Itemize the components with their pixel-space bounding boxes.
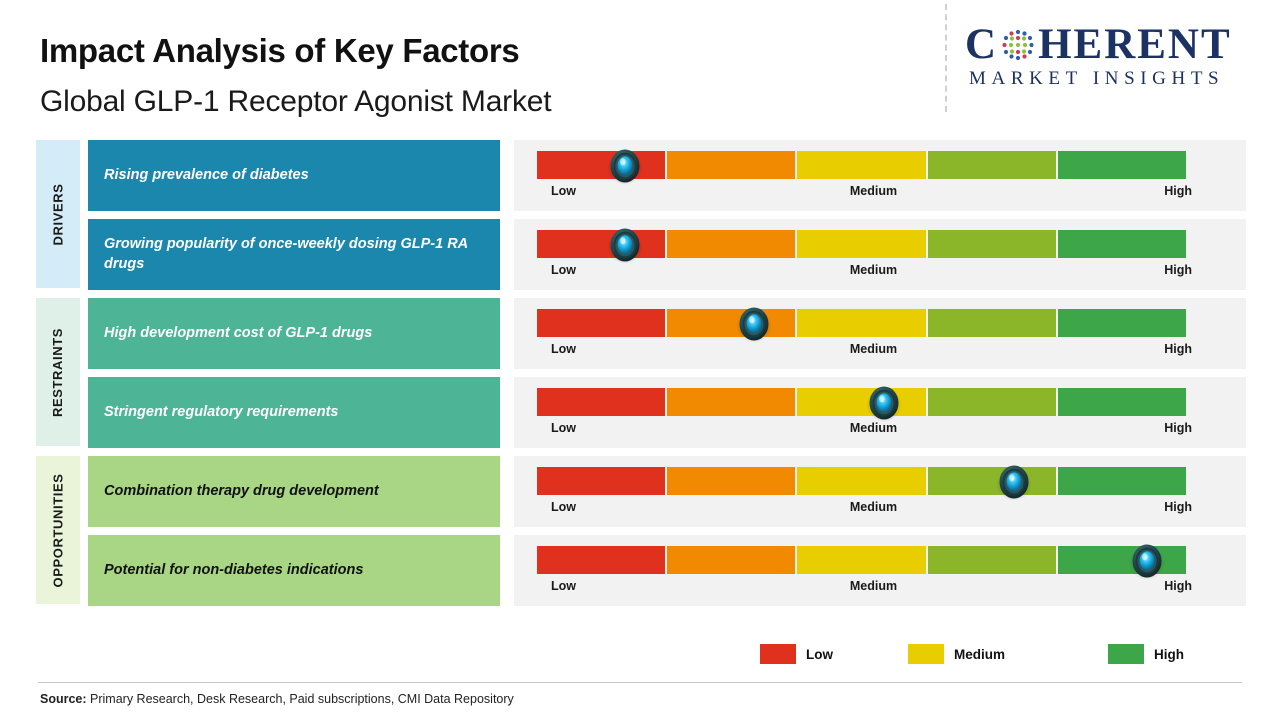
legend-swatch-high [1108, 644, 1144, 664]
gauge-segment-low-medium [667, 230, 795, 258]
gauge-segment-medium-high [928, 467, 1056, 495]
factor-label: Stringent regulatory requirements [88, 377, 500, 448]
gauge-segment-high [1058, 546, 1186, 574]
scale-label-low: Low [551, 421, 576, 435]
gauge-segment-medium [797, 151, 925, 179]
legend: Low Medium High [760, 644, 1220, 670]
gauge-segment-medium [797, 546, 925, 574]
source-text: Primary Research, Desk Research, Paid su… [87, 692, 514, 706]
gauge-bar [537, 546, 1186, 574]
legend-label-medium: Medium [954, 647, 1005, 662]
scale-label-low: Low [551, 342, 576, 356]
gauge-segment-low [537, 230, 665, 258]
gauge-segment-low-medium [667, 309, 795, 337]
gauge-bar [537, 467, 1186, 495]
scale-label-low: Low [551, 184, 576, 198]
gauge-segment-medium [797, 467, 925, 495]
gauge-segment-low-medium [667, 388, 795, 416]
gauge-row: Low Medium High [514, 219, 1246, 290]
scale-label-medium: Medium [850, 342, 897, 356]
factor-label: Rising prevalence of diabetes [88, 140, 500, 211]
gauge-segment-low [537, 546, 665, 574]
scale-label-low: Low [551, 263, 576, 277]
scale-label-high: High [1164, 500, 1192, 514]
gauge-scale-labels: Low Medium High [537, 421, 1210, 439]
category-tab-opportunities: OPPORTUNITIES [36, 456, 80, 604]
scale-label-high: High [1164, 263, 1192, 277]
scale-label-high: High [1164, 421, 1192, 435]
footer-divider [38, 682, 1242, 683]
legend-item-low: Low [760, 644, 833, 664]
globe-dots-icon [999, 26, 1037, 64]
impact-matrix: DRIVERS RESTRAINTS OPPORTUNITIES Rising … [0, 140, 1280, 610]
logo-wordmark: C [965, 22, 1265, 68]
factor-label: Combination therapy drug development [88, 456, 500, 527]
legend-item-high: High [1108, 644, 1184, 664]
gauge-row: Low Medium High [514, 535, 1246, 606]
gauge-segment-high [1058, 309, 1186, 337]
gauge-segment-low-medium [667, 546, 795, 574]
infographic-slide: Impact Analysis of Key Factors Global GL… [0, 0, 1280, 720]
scale-label-medium: Medium [850, 421, 897, 435]
factor-label: High development cost of GLP-1 drugs [88, 298, 500, 369]
gauge-scale-labels: Low Medium High [537, 579, 1210, 597]
gauge-segment-high [1058, 388, 1186, 416]
gauge-segment-high [1058, 230, 1186, 258]
category-label-opportunities: OPPORTUNITIES [51, 473, 66, 587]
gauge-segment-high [1058, 467, 1186, 495]
header-divider [945, 4, 947, 112]
gauge-segment-medium-high [928, 546, 1056, 574]
gauge-scale-labels: Low Medium High [537, 500, 1210, 518]
gauge-segment-medium [797, 309, 925, 337]
logo-tagline: MARKET INSIGHTS [969, 68, 1224, 90]
legend-item-medium: Medium [908, 644, 1005, 664]
gauge-segment-high [1058, 151, 1186, 179]
scale-label-medium: Medium [850, 579, 897, 593]
gauge-segment-medium-high [928, 388, 1056, 416]
category-label-restraints: RESTRAINTS [51, 327, 66, 416]
scale-label-high: High [1164, 342, 1192, 356]
header: Impact Analysis of Key Factors Global GL… [0, 0, 1280, 130]
gauge-segment-medium [797, 230, 925, 258]
gauge-row: Low Medium High [514, 298, 1246, 369]
legend-label-low: Low [806, 647, 833, 662]
gauge-bar [537, 388, 1186, 416]
gauge-scale-labels: Low Medium High [537, 342, 1210, 360]
gauge-segment-low [537, 467, 665, 495]
gauge-segment-low [537, 151, 665, 179]
gauge-segment-medium [797, 388, 925, 416]
legend-label-high: High [1154, 647, 1184, 662]
gauge-segment-medium-high [928, 309, 1056, 337]
gauge-row: Low Medium High [514, 140, 1246, 211]
source-label: Source: [40, 692, 87, 706]
logo-letter-c: C [965, 21, 998, 68]
gauge-bar [537, 151, 1186, 179]
scale-label-low: Low [551, 579, 576, 593]
gauge-segment-low-medium [667, 467, 795, 495]
logo-letters-herent: HERENT [1038, 21, 1232, 68]
factor-label: Growing popularity of once-weekly dosing… [88, 219, 500, 290]
brand-logo: C [965, 22, 1265, 102]
gauge-row: Low Medium High [514, 377, 1246, 448]
gauge-segment-low-medium [667, 151, 795, 179]
gauge-segment-medium-high [928, 230, 1056, 258]
scale-label-high: High [1164, 184, 1192, 198]
gauge-row: Low Medium High [514, 456, 1246, 527]
category-tab-restraints: RESTRAINTS [36, 298, 80, 446]
source-note: Source: Primary Research, Desk Research,… [40, 692, 514, 706]
legend-swatch-low [760, 644, 796, 664]
factor-label: Potential for non-diabetes indications [88, 535, 500, 606]
gauge-segment-medium-high [928, 151, 1056, 179]
gauge-segment-low [537, 309, 665, 337]
gauge-bar [537, 230, 1186, 258]
page-title: Impact Analysis of Key Factors [40, 32, 519, 70]
category-label-drivers: DRIVERS [51, 183, 66, 245]
gauge-scale-labels: Low Medium High [537, 263, 1210, 281]
gauge-scale-labels: Low Medium High [537, 184, 1210, 202]
gauge-segment-low [537, 388, 665, 416]
scale-label-medium: Medium [850, 500, 897, 514]
scale-label-high: High [1164, 579, 1192, 593]
scale-label-medium: Medium [850, 184, 897, 198]
page-subtitle: Global GLP-1 Receptor Agonist Market [40, 85, 551, 119]
scale-label-low: Low [551, 500, 576, 514]
scale-label-medium: Medium [850, 263, 897, 277]
legend-swatch-medium [908, 644, 944, 664]
category-tab-drivers: DRIVERS [36, 140, 80, 288]
gauge-bar [537, 309, 1186, 337]
